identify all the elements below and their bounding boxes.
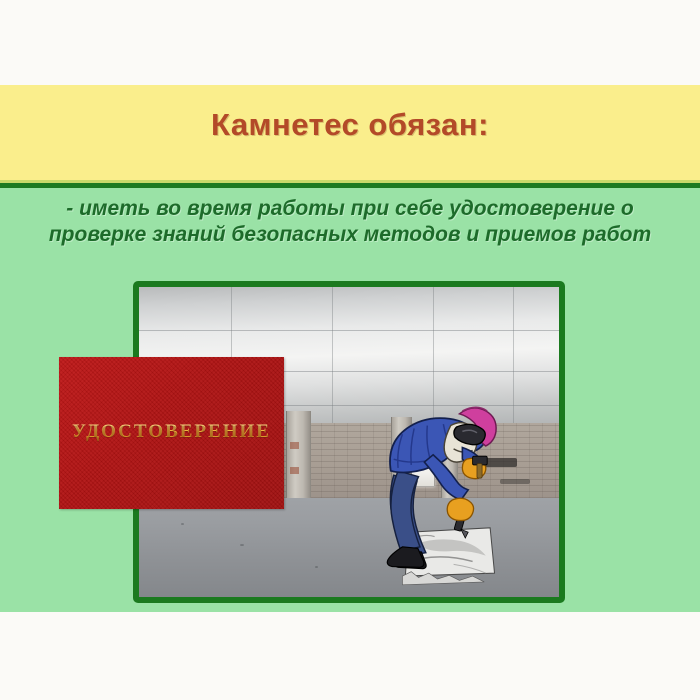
ceiling-seam (332, 287, 333, 423)
glove (448, 498, 474, 520)
column-marking (290, 442, 299, 449)
certificate-title: УДОСТОВЕРЕНИЕ (59, 421, 284, 443)
ceiling-seam (139, 330, 559, 331)
certificate-card: УДОСТОВЕРЕНИЕ (59, 357, 284, 509)
page-title: Камнетес обязан: (0, 107, 700, 143)
column-marking (290, 467, 299, 474)
stonemason-worker-illustration (357, 389, 550, 594)
column (286, 411, 311, 510)
slide: Камнетес обязан: - иметь во время работы… (0, 0, 700, 700)
body-text: - иметь во время работы при себе удостов… (40, 196, 660, 248)
floor-debris (181, 523, 184, 525)
title-band: Камнетес обязан: (0, 85, 700, 180)
